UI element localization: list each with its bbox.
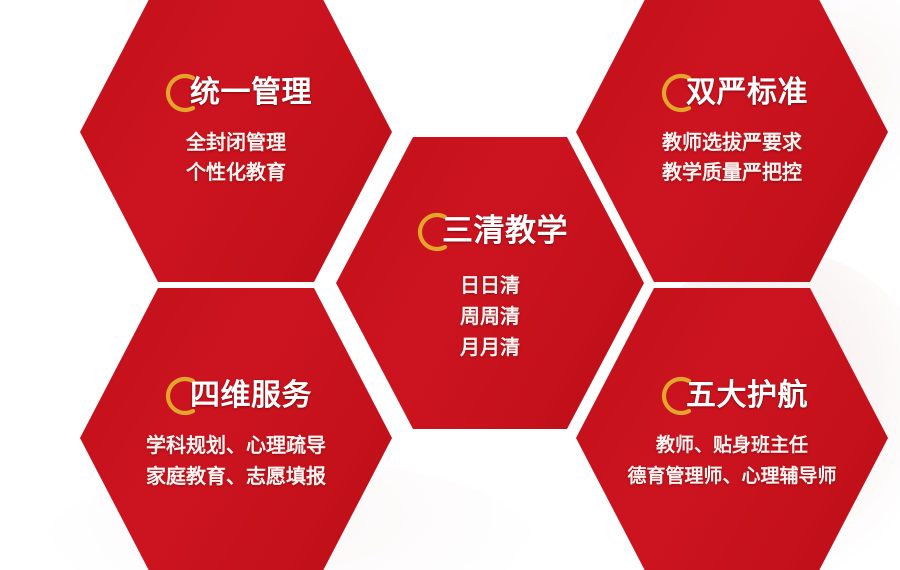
hexagon-card-tongyi-guanli[interactable]: 统一管理 全封闭管理 个性化教育 bbox=[80, 0, 392, 282]
hexagon-description-line: 日日清 bbox=[340, 270, 640, 301]
hexagon-title: 三清教学 bbox=[442, 214, 568, 249]
hexagon-description-line: 学科规划、心理疏导 bbox=[84, 430, 388, 461]
hexagon-description-line: 全封闭管理 bbox=[84, 127, 388, 157]
hexagon-title-row: 五大护航 bbox=[656, 372, 808, 420]
hexagon-title: 四维服务 bbox=[190, 379, 312, 413]
hexagon-card-siwei-fuwu[interactable]: 四维服务 学科规划、心理疏导 家庭教育、志愿填报 bbox=[80, 288, 392, 570]
hexagon-description: 教师、贴身班主任 德育管理师、心理辅导师 bbox=[580, 430, 884, 492]
hexagon-description-line: 家庭教育、志愿填报 bbox=[84, 461, 388, 492]
infographic-canvas: 统一管理 全封闭管理 个性化教育 双严标准 教师选拔严要求 教学质量严把控 bbox=[0, 0, 900, 570]
hexagon-description-line: 教学质量严把控 bbox=[580, 157, 884, 187]
hexagon-description-line: 教师、贴身班主任 bbox=[580, 430, 884, 461]
hexagon-description-line: 教师选拔严要求 bbox=[580, 127, 884, 157]
hexagon-title: 统一管理 bbox=[190, 76, 312, 110]
hexagon-title-row: 三清教学 bbox=[412, 208, 568, 256]
hexagon-card-shuangyan-biaozhun[interactable]: 双严标准 教师选拔严要求 教学质量严把控 bbox=[576, 0, 888, 282]
hexagon-card-sanqing-jiaoxue[interactable]: 三清教学 日日清 周周清 月月清 bbox=[336, 137, 644, 429]
hexagon-card-wuda-huhang[interactable]: 五大护航 教师、贴身班主任 德育管理师、心理辅导师 bbox=[576, 288, 888, 570]
hexagon-description: 学科规划、心理疏导 家庭教育、志愿填报 bbox=[84, 430, 388, 492]
hexagon-description: 全封闭管理 个性化教育 bbox=[84, 127, 388, 187]
hexagon-title-row: 统一管理 bbox=[160, 69, 312, 117]
hexagon-description-line: 德育管理师、心理辅导师 bbox=[580, 461, 884, 492]
hexagon-description-line: 月月清 bbox=[340, 332, 640, 363]
hexagon-title-row: 四维服务 bbox=[160, 372, 312, 420]
hexagon-title-row: 双严标准 bbox=[656, 69, 808, 117]
hexagon-description-line: 周周清 bbox=[340, 301, 640, 332]
hexagon-description-line: 个性化教育 bbox=[84, 157, 388, 187]
hexagon-description: 日日清 周周清 月月清 bbox=[340, 270, 640, 363]
hexagon-title: 双严标准 bbox=[686, 76, 808, 110]
hexagon-description: 教师选拔严要求 教学质量严把控 bbox=[580, 127, 884, 187]
hexagon-title: 五大护航 bbox=[686, 379, 808, 413]
